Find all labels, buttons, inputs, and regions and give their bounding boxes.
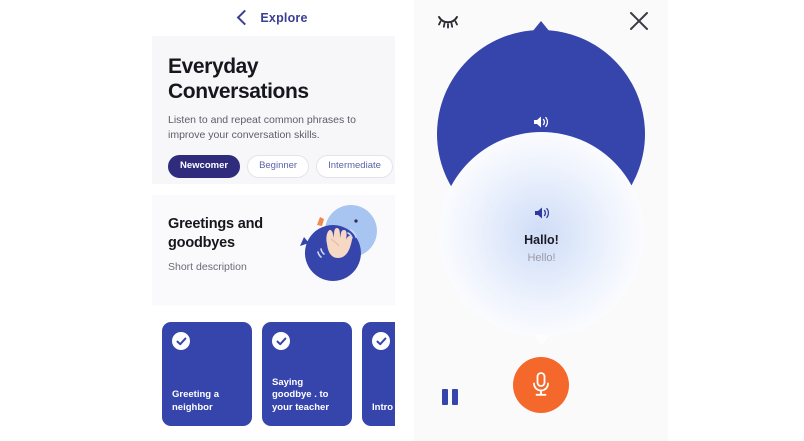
explore-header: Explore	[152, 0, 395, 36]
pause-icon	[452, 389, 458, 405]
hero-title-line-1: Everyday	[168, 55, 258, 78]
level-chip-row: Newcomer Beginner Intermediate	[168, 155, 379, 178]
level-chip-intermediate[interactable]: Intermediate	[316, 155, 393, 178]
page-title: Explore	[260, 11, 307, 25]
level-chip-beginner[interactable]: Beginner	[247, 155, 309, 178]
hero-subtitle: Listen to and repeat common phrases to i…	[168, 113, 378, 143]
check-circle-icon	[172, 332, 190, 350]
lesson-title-line-2: goodbyes	[168, 235, 235, 251]
record-mic-button[interactable]	[513, 357, 569, 413]
pause-button[interactable]	[442, 389, 460, 405]
close-icon[interactable]	[628, 10, 650, 32]
task-label: Saying goodbye . to your teacher	[272, 377, 344, 415]
speaker-volume-icon[interactable]	[532, 114, 550, 130]
phrase-translation-text: Hello!	[527, 252, 555, 264]
task-card[interactable]: Intro your job	[362, 322, 395, 426]
lesson-card[interactable]: Greetings and goodbyes Short description	[152, 195, 395, 305]
phrase-primary-text: Hallo!	[524, 233, 559, 247]
explore-panel: Explore Everyday Conversations Listen to…	[152, 0, 395, 441]
practice-panel: Hallo! Hello!	[414, 0, 668, 441]
task-card-row: Greeting a neighbor Saying goodbye . to …	[162, 322, 395, 426]
hero-title-line-2: Conversations	[168, 80, 309, 103]
chevron-left-icon[interactable]	[237, 10, 253, 26]
waving-hand-speech-bubble-illustration	[293, 199, 389, 289]
check-circle-icon	[372, 332, 390, 350]
hero-title: Everyday Conversations	[168, 54, 379, 104]
task-label: Greeting a neighbor	[172, 389, 244, 414]
task-card[interactable]: Greeting a neighbor	[162, 322, 252, 426]
lesson-title: Greetings and goodbyes	[168, 215, 313, 253]
lesson-title-line-1: Greetings and	[168, 216, 263, 232]
hero-card: Everyday Conversations Listen to and rep…	[152, 36, 395, 184]
bubble-tail	[532, 21, 550, 32]
speaker-volume-icon[interactable]	[533, 205, 551, 221]
bubble-tail	[534, 335, 550, 345]
check-circle-icon	[272, 332, 290, 350]
microphone-icon	[530, 371, 552, 399]
eye-off-icon[interactable]	[436, 12, 460, 30]
pause-icon	[442, 389, 448, 405]
task-card[interactable]: Saying goodbye . to your teacher	[262, 322, 352, 426]
task-label: Intro your job	[372, 402, 395, 415]
answer-speech-bubble: Hallo! Hello!	[439, 132, 644, 337]
level-chip-newcomer[interactable]: Newcomer	[168, 155, 240, 178]
